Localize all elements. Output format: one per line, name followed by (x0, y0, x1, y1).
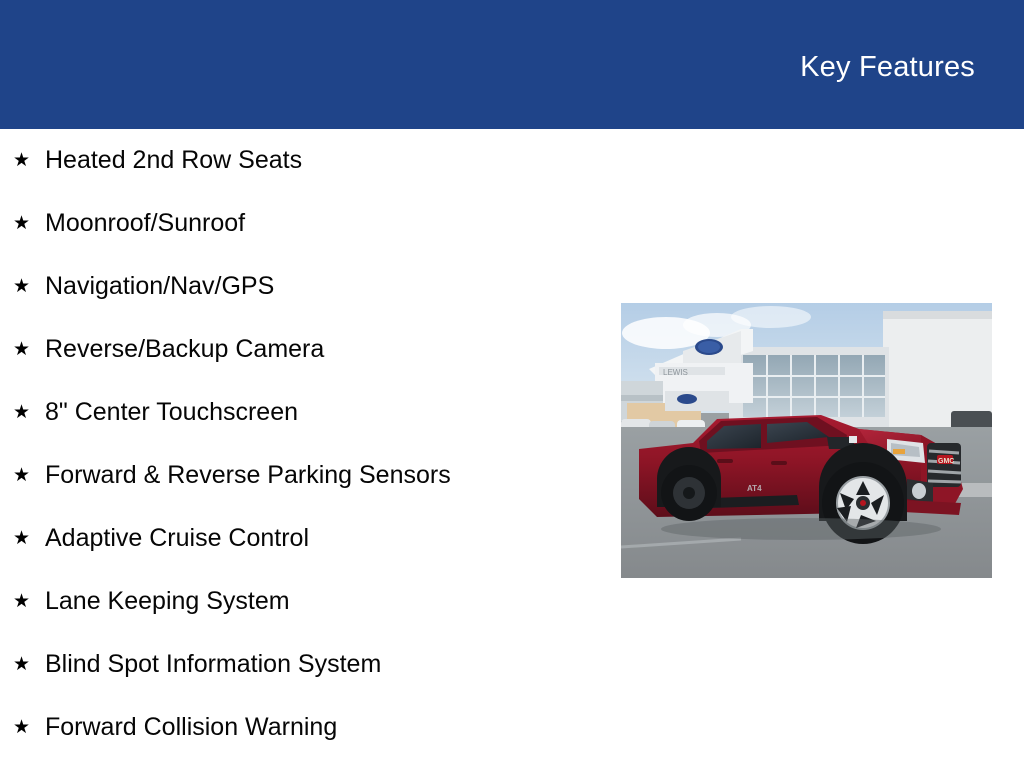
list-item: ★ Blind Spot Information System (0, 633, 600, 696)
star-bullet-icon: ★ (13, 718, 34, 737)
list-item: ★ 8" Center Touchscreen (0, 381, 600, 444)
list-item: ★ Forward Collision Warning (0, 696, 600, 759)
star-bullet-icon: ★ (13, 655, 34, 674)
list-item: ★ Moonroof/Sunroof (0, 192, 600, 255)
star-bullet-icon: ★ (13, 403, 34, 422)
star-bullet-icon: ★ (13, 151, 34, 170)
list-item-label: Navigation/Nav/GPS (45, 274, 274, 299)
list-item-label: Lane Keeping System (45, 589, 290, 614)
list-item-label: Heated 2nd Row Seats (45, 148, 302, 173)
star-bullet-icon: ★ (13, 340, 34, 359)
key-features-list: ★ Heated 2nd Row Seats ★ Moonroof/Sunroo… (0, 129, 600, 759)
star-bullet-icon: ★ (13, 466, 34, 485)
vehicle-photo-image: LEWIS AT4 (621, 303, 992, 578)
list-item-label: 8" Center Touchscreen (45, 400, 298, 425)
star-bullet-icon: ★ (13, 214, 34, 233)
list-item: ★ Navigation/Nav/GPS (0, 255, 600, 318)
svg-text:LEWIS: LEWIS (663, 368, 688, 377)
vehicle-photo: LEWIS AT4 (621, 303, 992, 578)
list-item: ★ Lane Keeping System (0, 570, 600, 633)
list-item: ★ Heated 2nd Row Seats (0, 129, 600, 192)
page-title: Key Features (800, 53, 975, 82)
list-item: ★ Reverse/Backup Camera (0, 318, 600, 381)
star-bullet-icon: ★ (13, 277, 34, 296)
star-bullet-icon: ★ (13, 529, 34, 548)
list-item: ★ Forward & Reverse Parking Sensors (0, 444, 600, 507)
list-item-label: Forward & Reverse Parking Sensors (45, 463, 451, 488)
list-item-label: Adaptive Cruise Control (45, 526, 309, 551)
star-bullet-icon: ★ (13, 592, 34, 611)
list-item-label: Reverse/Backup Camera (45, 337, 324, 362)
svg-text:AT4: AT4 (747, 484, 762, 493)
list-item-label: Blind Spot Information System (45, 652, 381, 677)
list-item-label: Forward Collision Warning (45, 715, 337, 740)
list-item: ★ Adaptive Cruise Control (0, 507, 600, 570)
list-item-label: Moonroof/Sunroof (45, 211, 245, 236)
svg-text:GMC: GMC (938, 458, 954, 465)
header-bar: Key Features (0, 0, 1024, 129)
